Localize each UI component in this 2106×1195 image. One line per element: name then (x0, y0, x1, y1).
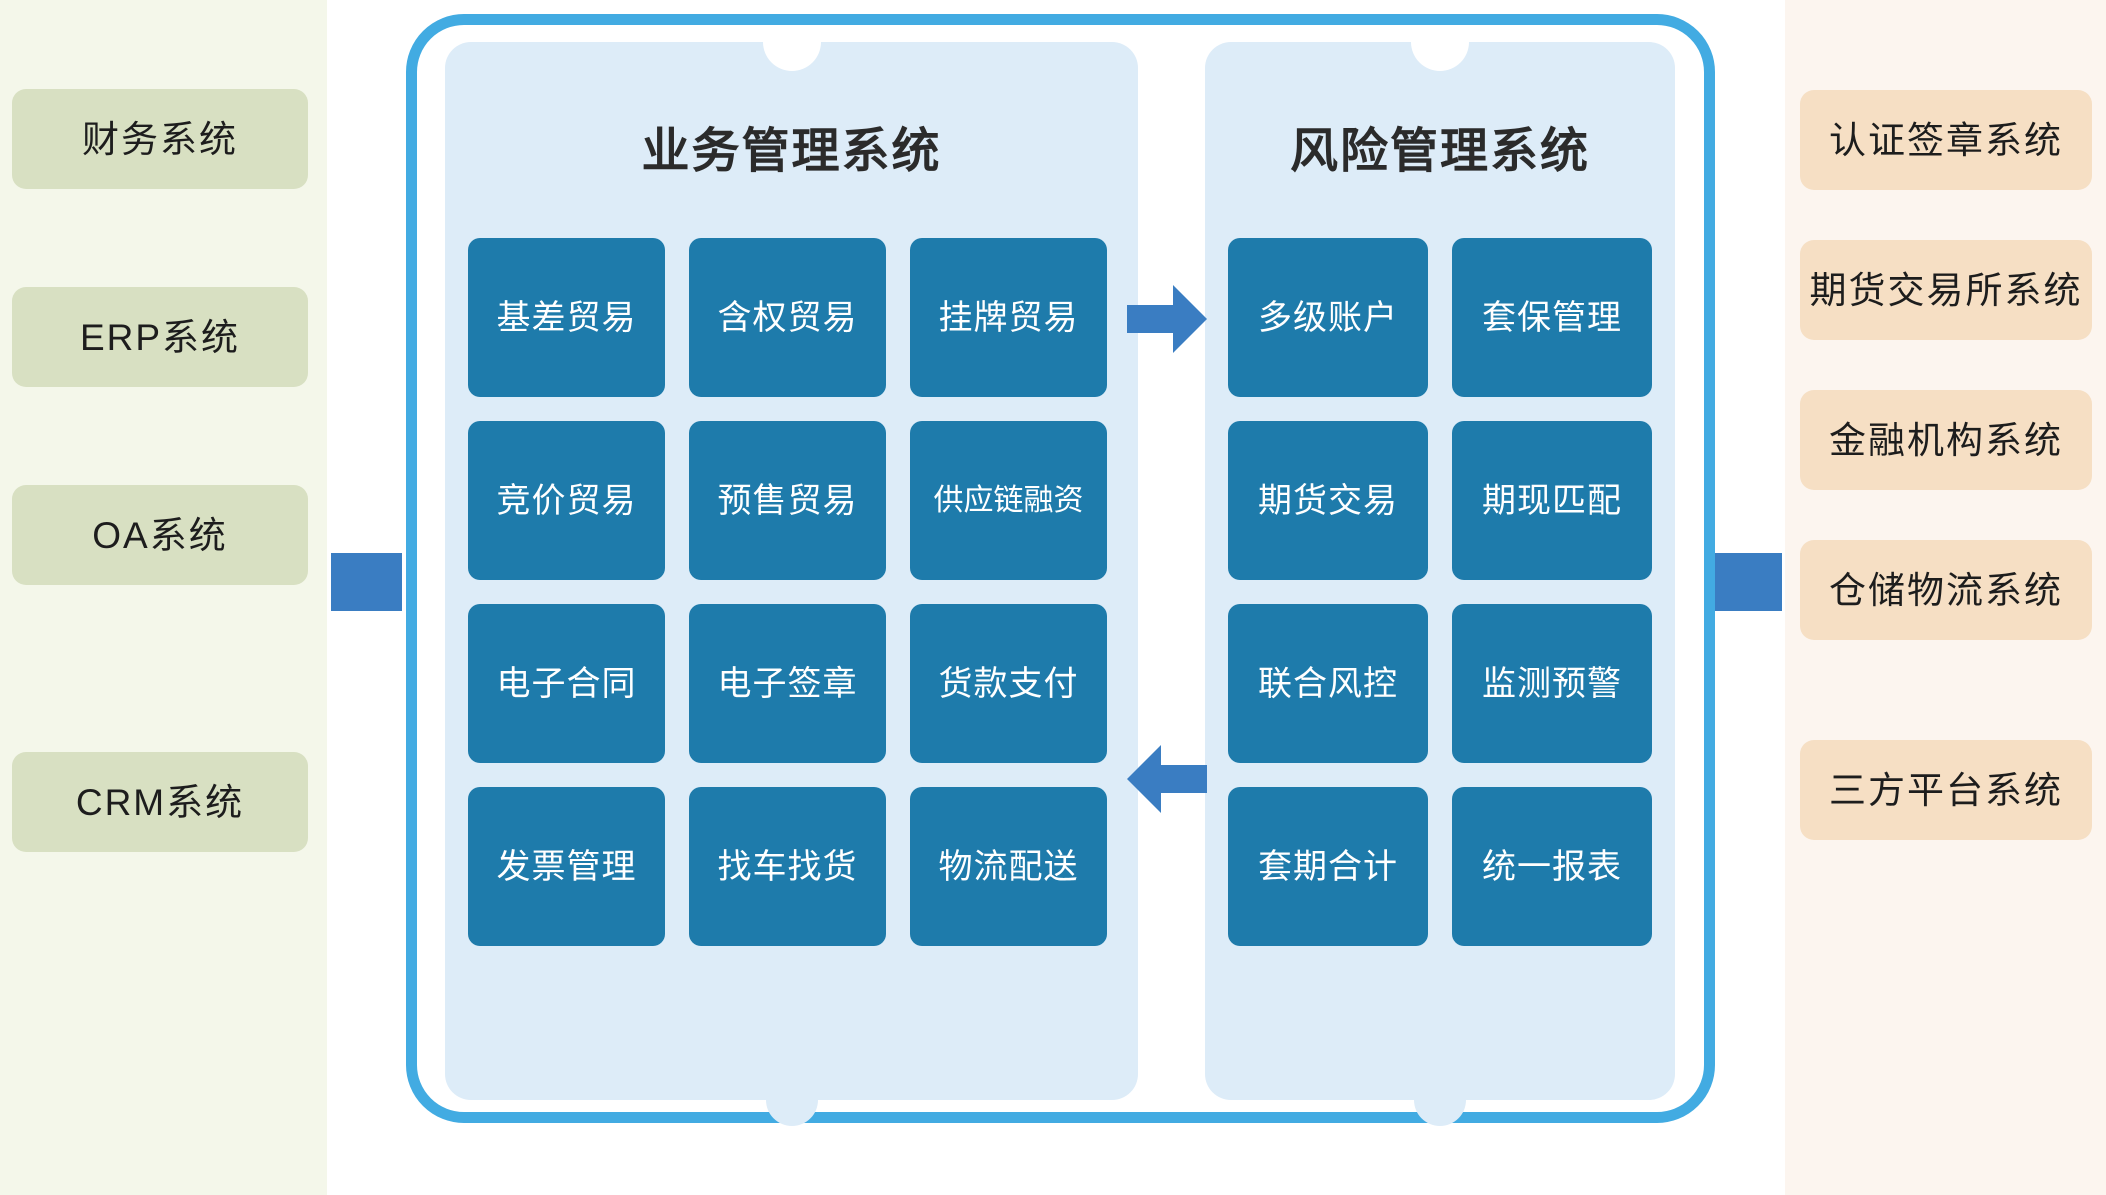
business-module-tile-0[interactable]: 基差贸易 (468, 238, 665, 397)
right-system-label-3: 仓储物流系统 (1829, 572, 2063, 609)
panel-top-notch-risk (1411, 41, 1469, 71)
business-module-tile-2[interactable]: 挂牌贸易 (910, 238, 1107, 397)
business-module-tile-4[interactable]: 预售贸易 (689, 421, 886, 580)
risk-module-tile-1[interactable]: 套保管理 (1452, 238, 1652, 397)
business-module-tile-7[interactable]: 电子签章 (689, 604, 886, 763)
business-module-label-10: 找车找货 (718, 850, 858, 884)
risk-modules-grid: 多级账户 套保管理 期货交易 期现匹配 联合风控 监测预警 套期合计 统一报表 (1228, 238, 1652, 946)
left-system-label-1: ERP系统 (80, 319, 240, 356)
arrow-right-icon (1127, 285, 1207, 353)
business-module-tile-9[interactable]: 发票管理 (468, 787, 665, 946)
risk-module-label-4: 联合风控 (1258, 667, 1398, 701)
business-module-label-8: 货款支付 (939, 667, 1079, 701)
business-modules-grid: 基差贸易 含权贸易 挂牌贸易 竞价贸易 预售贸易 供应链融资 电子合同 电子签章 (468, 238, 1115, 946)
business-module-tile-5[interactable]: 供应链融资 (910, 421, 1107, 580)
risk-module-tile-3[interactable]: 期现匹配 (1452, 421, 1652, 580)
right-system-chip-4[interactable]: 三方平台系统 (1800, 740, 2092, 840)
risk-module-label-1: 套保管理 (1482, 301, 1622, 335)
business-module-label-11: 物流配送 (939, 850, 1079, 884)
risk-module-tile-2[interactable]: 期货交易 (1228, 421, 1428, 580)
right-system-chip-2[interactable]: 金融机构系统 (1800, 390, 2092, 490)
risk-module-tile-0[interactable]: 多级账户 (1228, 238, 1428, 397)
risk-module-label-3: 期现匹配 (1482, 484, 1622, 518)
right-system-label-2: 金融机构系统 (1829, 422, 2063, 459)
business-module-tile-11[interactable]: 物流配送 (910, 787, 1107, 946)
risk-module-label-2: 期货交易 (1258, 484, 1398, 518)
business-module-label-5: 供应链融资 (934, 486, 1084, 516)
risk-module-label-5: 监测预警 (1482, 667, 1622, 701)
business-management-panel: 业务管理系统 基差贸易 含权贸易 挂牌贸易 竞价贸易 预售贸易 供应链融资 电子… (445, 42, 1138, 1100)
right-system-chip-0[interactable]: 认证签章系统 (1800, 90, 2092, 190)
business-module-tile-10[interactable]: 找车找货 (689, 787, 886, 946)
connector-right (1710, 553, 1782, 611)
left-system-chip-1[interactable]: ERP系统 (12, 287, 308, 387)
left-system-chip-3[interactable]: CRM系统 (12, 752, 308, 852)
left-system-chip-2[interactable]: OA系统 (12, 485, 308, 585)
left-system-label-2: OA系统 (92, 517, 227, 554)
right-system-chip-1[interactable]: 期货交易所系统 (1800, 240, 2092, 340)
connector-left (331, 553, 402, 611)
risk-panel-title: 风险管理系统 (1205, 128, 1675, 176)
business-module-label-4: 预售贸易 (718, 484, 858, 518)
business-module-tile-3[interactable]: 竞价贸易 (468, 421, 665, 580)
business-module-label-3: 竞价贸易 (497, 484, 637, 518)
business-module-tile-8[interactable]: 货款支付 (910, 604, 1107, 763)
diagram-canvas: 财务系统 ERP系统 OA系统 CRM系统 认证签章系统 期货交易所系统 金融机… (0, 0, 2106, 1195)
arrow-risk-to-business (1127, 745, 1207, 813)
panel-top-notch (763, 41, 821, 71)
risk-module-tile-4[interactable]: 联合风控 (1228, 604, 1428, 763)
arrow-left-icon (1127, 745, 1207, 813)
left-system-label-3: CRM系统 (76, 784, 244, 821)
risk-module-label-6: 套期合计 (1258, 850, 1398, 884)
business-module-label-6: 电子合同 (497, 667, 637, 701)
left-system-chip-0[interactable]: 财务系统 (12, 89, 308, 189)
left-system-label-0: 财务系统 (82, 121, 238, 158)
risk-management-panel: 风险管理系统 多级账户 套保管理 期货交易 期现匹配 联合风控 监测预警 套期合… (1205, 42, 1675, 1100)
right-system-chip-3[interactable]: 仓储物流系统 (1800, 540, 2092, 640)
right-system-label-0: 认证签章系统 (1829, 122, 2063, 159)
business-module-tile-6[interactable]: 电子合同 (468, 604, 665, 763)
risk-module-label-7: 统一报表 (1482, 850, 1622, 884)
business-module-label-9: 发票管理 (497, 850, 637, 884)
arrow-business-to-risk (1127, 285, 1207, 353)
business-panel-title: 业务管理系统 (445, 128, 1138, 176)
right-system-label-4: 三方平台系统 (1829, 772, 2063, 809)
business-module-label-0: 基差贸易 (497, 301, 637, 335)
business-module-label-7: 电子签章 (718, 667, 858, 701)
business-module-label-1: 含权贸易 (718, 301, 858, 335)
business-module-tile-1[interactable]: 含权贸易 (689, 238, 886, 397)
risk-module-label-0: 多级账户 (1258, 301, 1398, 335)
risk-module-tile-6[interactable]: 套期合计 (1228, 787, 1428, 946)
risk-module-tile-7[interactable]: 统一报表 (1452, 787, 1652, 946)
risk-module-tile-5[interactable]: 监测预警 (1452, 604, 1652, 763)
right-system-label-1: 期货交易所系统 (1810, 272, 2083, 309)
business-module-label-2: 挂牌贸易 (939, 301, 1079, 335)
